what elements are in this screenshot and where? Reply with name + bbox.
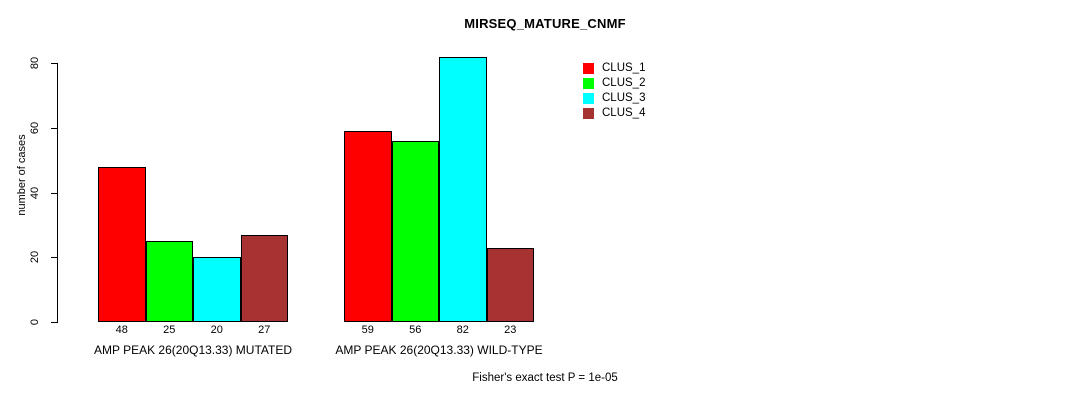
y-axis-tick xyxy=(51,63,58,64)
legend-color-swatch xyxy=(582,107,595,120)
bar xyxy=(193,257,241,322)
bar xyxy=(241,235,289,322)
legend-item: CLUS_1 xyxy=(582,61,645,76)
bar xyxy=(487,248,535,322)
bar xyxy=(146,241,194,322)
bar-value-label: 82 xyxy=(439,324,487,336)
y-axis-tick xyxy=(51,322,58,323)
y-axis-tick-label: 80 xyxy=(29,50,41,76)
legend-color-swatch xyxy=(582,62,595,75)
legend: CLUS_1CLUS_2CLUS_3CLUS_4 xyxy=(582,61,645,121)
y-axis-label: number of cases xyxy=(16,115,28,235)
bar xyxy=(98,167,146,322)
bar-value-label: 23 xyxy=(487,324,535,336)
legend-label: CLUS_2 xyxy=(602,77,645,90)
y-axis-tick-label: 20 xyxy=(29,244,41,270)
legend-item: CLUS_2 xyxy=(582,76,645,91)
legend-item: CLUS_3 xyxy=(582,91,645,106)
bar-value-label: 20 xyxy=(193,324,241,336)
y-axis-tick-label: 60 xyxy=(29,115,41,141)
statistical-test-note: Fisher's exact test P = 1e-05 xyxy=(0,372,1090,384)
y-axis-tick xyxy=(51,193,58,194)
y-axis-tick xyxy=(51,128,58,129)
barplot-figure: MIRSEQ_MATURE_CNMF 020406080 number of c… xyxy=(0,0,1090,400)
bar xyxy=(344,131,392,322)
bar-value-label: 25 xyxy=(146,324,194,336)
legend-label: CLUS_4 xyxy=(602,107,645,120)
y-axis-tick xyxy=(51,257,58,258)
plot-area: 020406080 number of cases 48252027595682… xyxy=(0,0,1090,400)
legend-label: CLUS_1 xyxy=(602,62,645,75)
bar-value-label: 48 xyxy=(98,324,146,336)
y-axis-tick-label: 0 xyxy=(29,309,41,335)
group-label: AMP PEAK 26(20Q13.33) WILD-TYPE xyxy=(289,343,589,357)
bar xyxy=(439,57,487,322)
bar xyxy=(392,141,440,322)
legend-item: CLUS_4 xyxy=(582,106,645,121)
legend-label: CLUS_3 xyxy=(602,92,645,105)
bar-value-label: 59 xyxy=(344,324,392,336)
legend-color-swatch xyxy=(582,77,595,90)
bar-value-label: 56 xyxy=(392,324,440,336)
bar-value-label: 27 xyxy=(241,324,289,336)
y-axis-tick-label: 40 xyxy=(29,180,41,206)
legend-color-swatch xyxy=(582,92,595,105)
